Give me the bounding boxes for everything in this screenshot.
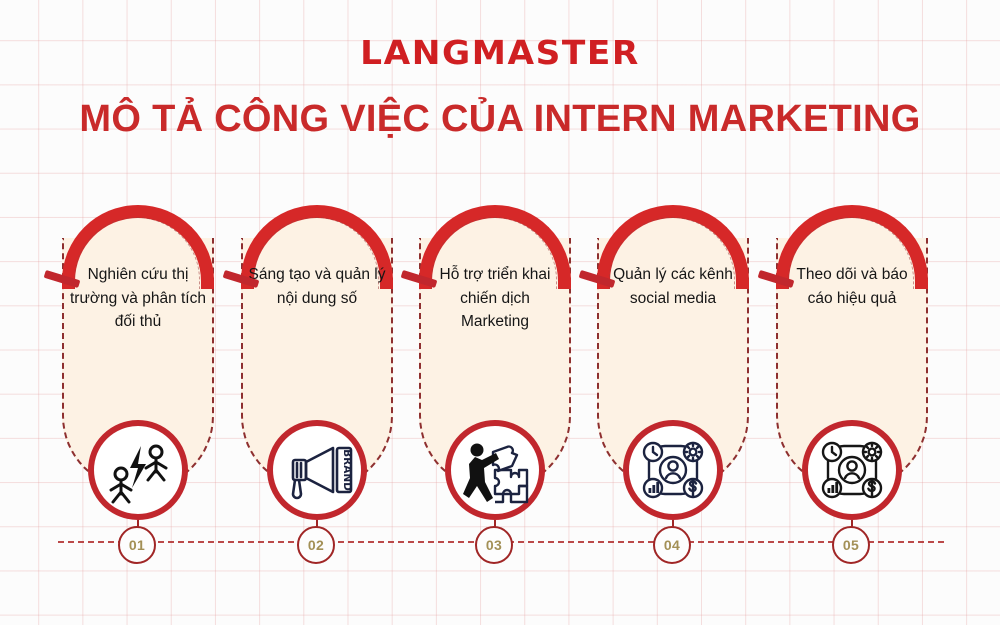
step-text: Nghiên cứu thị trường và phân tích đối t… <box>68 263 208 334</box>
step-icon-circle <box>445 420 545 520</box>
step-text: Theo dõi và báo cáo hiệu quả <box>782 263 922 310</box>
steps-row: Nghiên cứu thị trường và phân tích đối t… <box>0 0 1000 625</box>
megaphone-brand-icon: BRAND <box>273 426 361 514</box>
person-puzzle-icon <box>451 426 539 514</box>
step-card-2: Sáng tạo và quản lý nội dung số <box>241 205 393 495</box>
step-number-bead-2: 02 <box>297 526 335 564</box>
step-number: 02 <box>308 537 324 553</box>
step-number: 05 <box>843 537 859 553</box>
step-number: 04 <box>664 537 680 553</box>
step-number-bead-4: 04 <box>653 526 691 564</box>
step-icon-circle <box>802 420 902 520</box>
step-card-1: Nghiên cứu thị trường và phân tích đối t… <box>62 205 214 495</box>
step-card-5: Theo dõi và báo cáo hiệu quả <box>776 205 928 495</box>
step-number-bead-5: 05 <box>832 526 870 564</box>
megaphone-brand-label: BRAND <box>341 449 353 491</box>
step-icon-circle <box>623 420 723 520</box>
people-lightning-icon <box>94 426 182 514</box>
step-number-bead-3: 03 <box>475 526 513 564</box>
user-metrics-icon <box>808 426 896 514</box>
step-text: Quản lý các kênh social media <box>603 263 743 310</box>
step-number: 03 <box>486 537 502 553</box>
step-card-4: Quản lý các kênh social media <box>597 205 749 495</box>
step-icon-circle: BRAND <box>267 420 367 520</box>
step-number: 01 <box>129 537 145 553</box>
step-number-bead-1: 01 <box>118 526 156 564</box>
step-text: Sáng tạo và quản lý nội dung số <box>247 263 387 310</box>
step-card-3: Hỗ trợ triển khai chiến dịch Marketing <box>419 205 571 495</box>
step-text: Hỗ trợ triển khai chiến dịch Marketing <box>425 263 565 334</box>
step-icon-circle <box>88 420 188 520</box>
infographic-page: LANGMASTER MÔ TẢ CÔNG VIỆC CỦA INTERN MA… <box>0 0 1000 625</box>
user-metrics-icon <box>629 426 717 514</box>
